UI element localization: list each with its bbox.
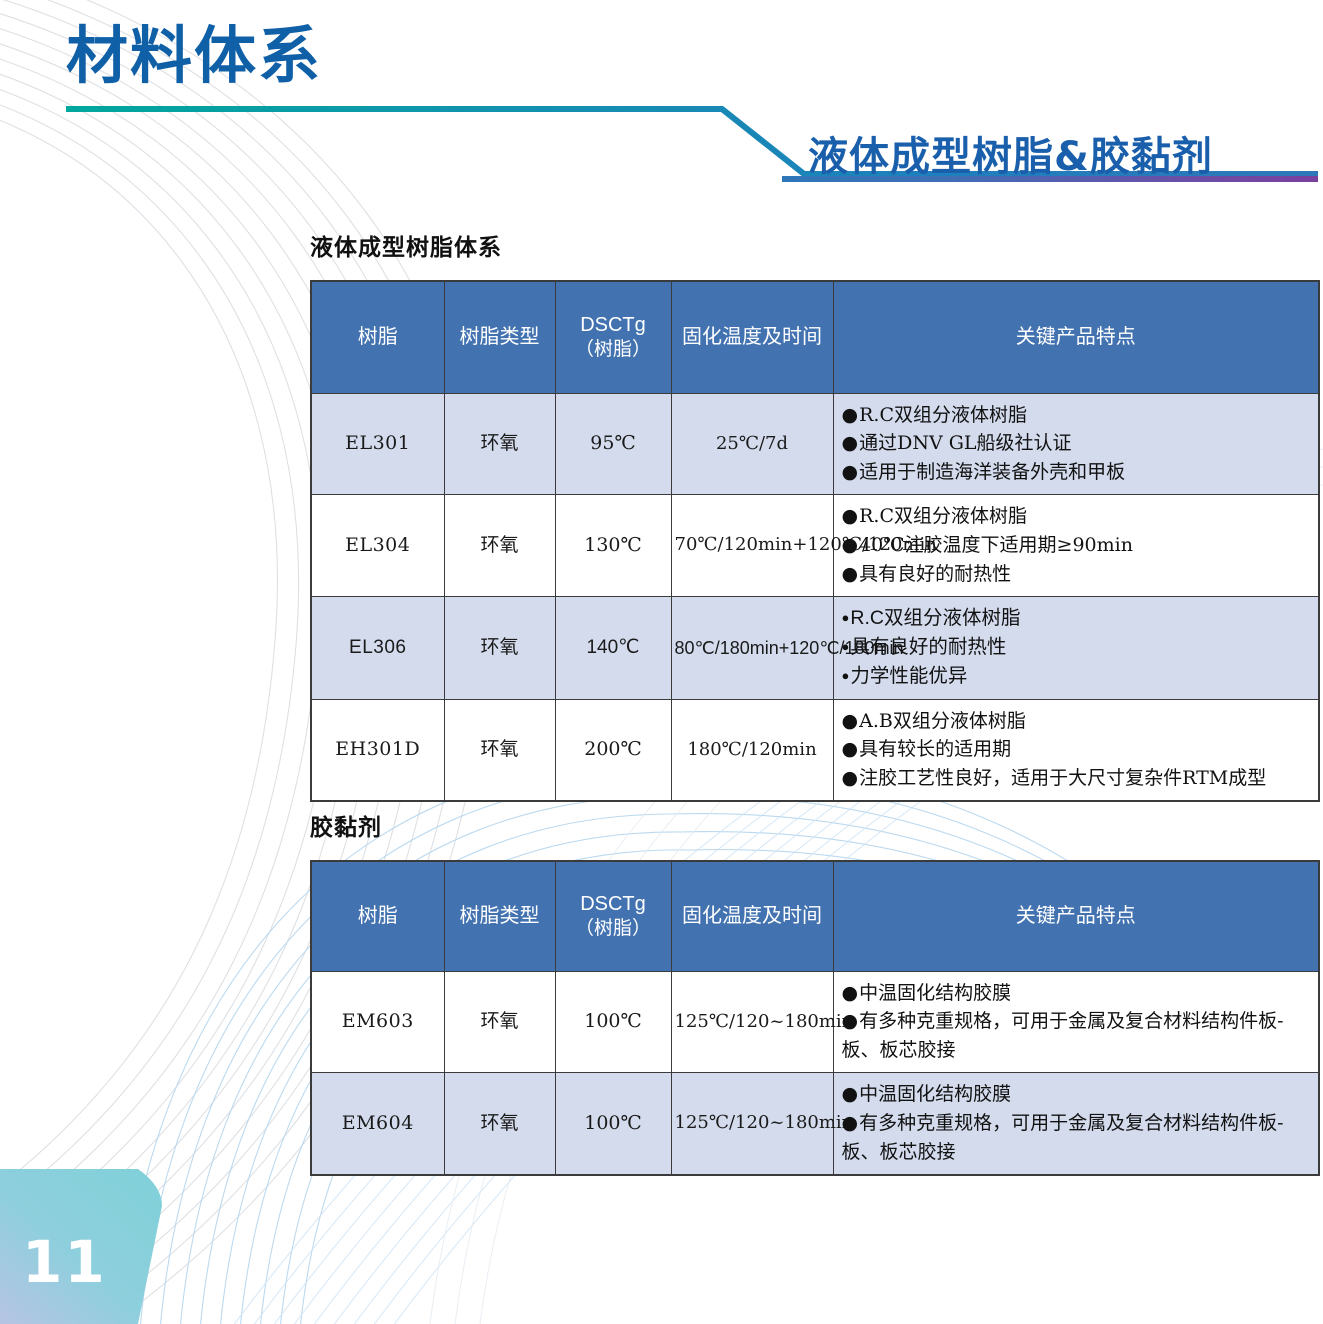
cell-features: ●R.C双组分液体树脂 ●具有良好的耐热性 ●力学性能优异 (833, 596, 1319, 699)
cell-resin-type: 环氧 (444, 1073, 555, 1175)
col-header-cure-temp-time: 固化温度及时间 (671, 861, 833, 971)
table-header-row: 树脂 树脂类型 DSCTg （树脂） 固化温度及时间 关键产品特点 (311, 861, 1319, 971)
cell-dsctg: 140℃ (555, 596, 671, 699)
table-header-row: 树脂 树脂类型 DSCTg （树脂） 固化温度及时间 关键产品特点 (311, 281, 1319, 393)
cell-cure: 180℃/120min (671, 699, 833, 801)
cell-features: ●R.C双组分液体树脂 ●40℃注胶温度下适用期≥90min ●具有良好的耐热性 (833, 495, 1319, 597)
cell-dsctg: 100℃ (555, 971, 671, 1073)
bullet-icon: ● (842, 560, 859, 589)
cell-cure: 125℃/120~180min (671, 971, 833, 1073)
cell-resin-name: EL306 (311, 596, 444, 699)
banner-underline (782, 176, 1318, 182)
bullet-icon: ● (842, 502, 859, 531)
banner-title: 液体成型树脂&胶黏剂 (808, 124, 1213, 182)
table-row: EH301D 环氧 200℃ 180℃/120min ●A.B双组分液体树脂 ●… (311, 699, 1319, 801)
cell-features: ●R.C双组分液体树脂 ●通过DNV GL船级社认证 ●适用于制造海洋装备外壳和… (833, 393, 1319, 495)
bullet-icon: ● (842, 979, 859, 1008)
bullet-icon: ● (842, 401, 859, 430)
table-row: EL306 环氧 140℃ 80℃/180min+120℃/180min ●R.… (311, 596, 1319, 699)
cell-dsctg: 130℃ (555, 495, 671, 597)
adhesive-table: 树脂 树脂类型 DSCTg （树脂） 固化温度及时间 关键产品特点 (310, 860, 1320, 1176)
cell-resin-name: EH301D (311, 699, 444, 801)
col-header-key-features: 关键产品特点 (833, 861, 1319, 971)
cell-resin-type: 环氧 (444, 971, 555, 1073)
cell-resin-name: EM603 (311, 971, 444, 1073)
table-row: EL301 环氧 95℃ 25℃/7d ●R.C双组分液体树脂 ●通过DNV G… (311, 393, 1319, 495)
cell-dsctg: 200℃ (555, 699, 671, 801)
bullet-icon: ● (842, 531, 859, 560)
table-row: EM603 环氧 100℃ 125℃/120~180min ●中温固化结构胶膜 … (311, 971, 1319, 1073)
section-heading-adhesive: 胶黏剂 (310, 808, 382, 842)
bullet-icon: ● (842, 608, 850, 628)
col-header-resin-type: 树脂类型 (444, 861, 555, 971)
cell-cure: 70℃/120min+120℃/120min (671, 495, 833, 597)
table-row: EM604 环氧 100℃ 125℃/120~180min ●中温固化结构胶膜 … (311, 1073, 1319, 1175)
col-header-resin-type: 树脂类型 (444, 281, 555, 393)
col-header-resin: 树脂 (311, 861, 444, 971)
cell-resin-name: EL301 (311, 393, 444, 495)
bullet-icon: ● (842, 637, 850, 657)
table-row: EL304 环氧 130℃ 70℃/120min+120℃/120min ●R.… (311, 495, 1319, 597)
bullet-icon: ● (842, 666, 850, 686)
cell-dsctg: 100℃ (555, 1073, 671, 1175)
cell-resin-name: EM604 (311, 1073, 444, 1175)
bullet-icon: ● (842, 429, 859, 458)
cell-resin-type: 环氧 (444, 596, 555, 699)
cell-dsctg: 95℃ (555, 393, 671, 495)
cell-features: ●中温固化结构胶膜 ●有多种克重规格，可用于金属及复合材料结构件板-板、板芯胶接 (833, 971, 1319, 1073)
col-header-cure-temp-time: 固化温度及时间 (671, 281, 833, 393)
cell-resin-type: 环氧 (444, 393, 555, 495)
bullet-icon: ● (842, 1007, 859, 1036)
col-header-dsctg: DSCTg （树脂） (555, 861, 671, 971)
bullet-icon: ● (842, 764, 859, 793)
col-header-dsctg: DSCTg （树脂） (555, 281, 671, 393)
bullet-icon: ● (842, 707, 859, 736)
bullet-icon: ● (842, 458, 859, 487)
bullet-icon: ● (842, 735, 859, 764)
page-number: 11 (22, 1228, 107, 1296)
cell-cure: 80℃/180min+120℃/180min (671, 596, 833, 699)
slide-page: 材料体系 液体成型树脂&胶黏剂 液体成型树脂体系 (0, 0, 1323, 1324)
section-heading-liquid-resin: 液体成型树脂体系 (310, 228, 502, 262)
cell-resin-type: 环氧 (444, 495, 555, 597)
col-header-key-features: 关键产品特点 (833, 281, 1319, 393)
cell-features: ●A.B双组分液体树脂 ●具有较长的适用期 ●注胶工艺性良好，适用于大尺寸复杂件… (833, 699, 1319, 801)
cell-resin-name: EL304 (311, 495, 444, 597)
cell-resin-type: 环氧 (444, 699, 555, 801)
cell-cure: 125℃/120~180min (671, 1073, 833, 1175)
bullet-icon: ● (842, 1080, 859, 1109)
liquid-molding-resin-table: 树脂 树脂类型 DSCTg （树脂） 固化温度及时间 关键产品特点 (310, 280, 1320, 802)
col-header-resin: 树脂 (311, 281, 444, 393)
cell-features: ●中温固化结构胶膜 ●有多种克重规格，可用于金属及复合材料结构件板-板、板芯胶接 (833, 1073, 1319, 1175)
bullet-icon: ● (842, 1109, 859, 1138)
page-title: 材料体系 (66, 22, 322, 90)
cell-cure: 25℃/7d (671, 393, 833, 495)
